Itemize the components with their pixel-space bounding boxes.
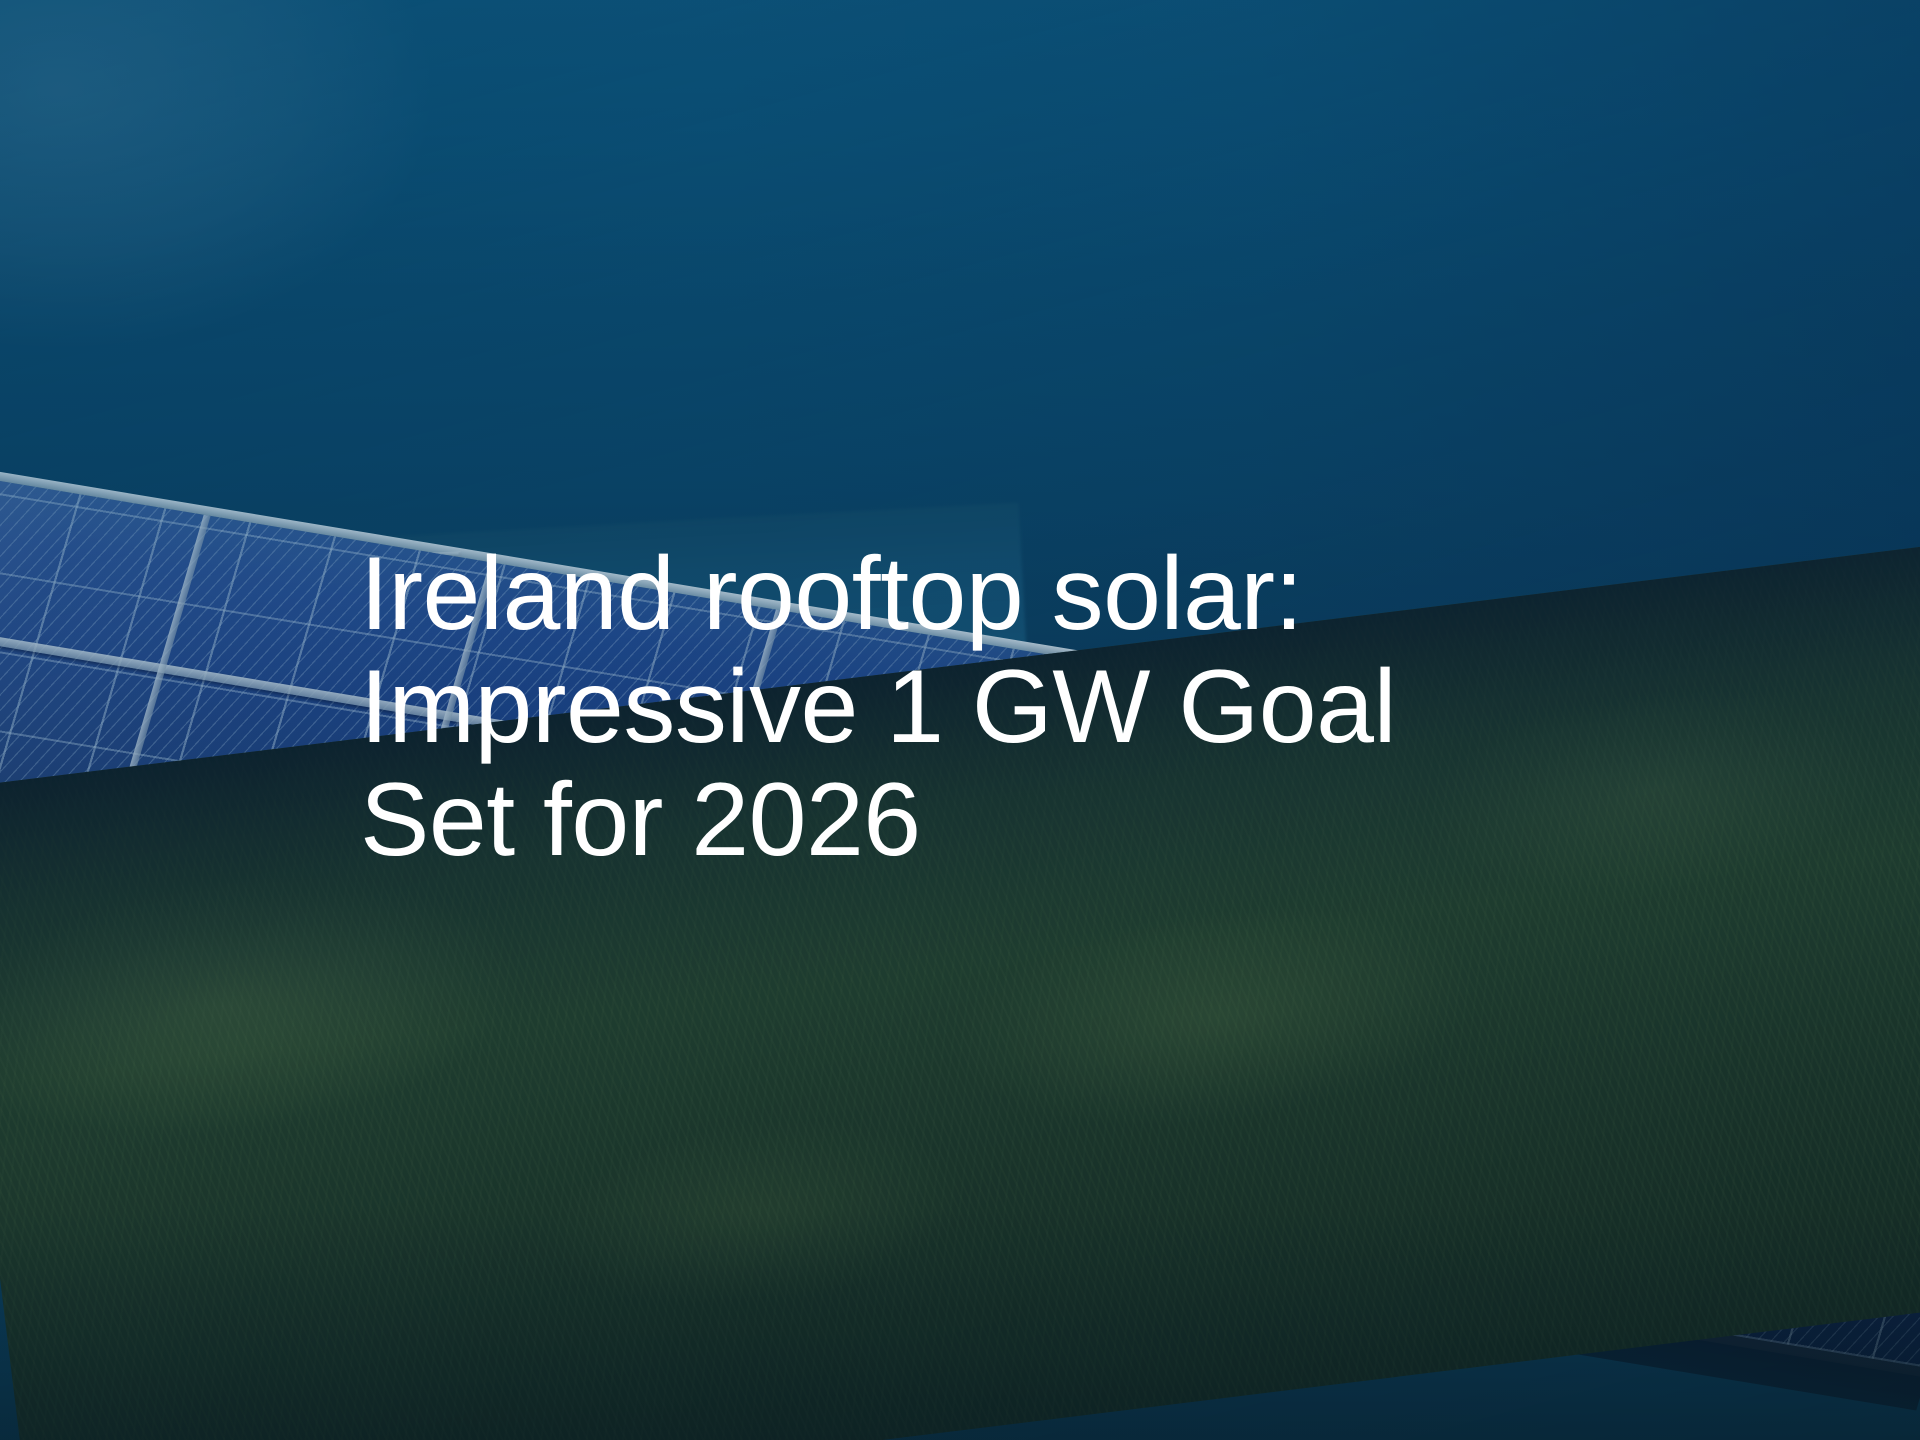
headline-title: Ireland rooftop solar: Impressive 1 GW G… <box>360 538 1660 877</box>
hero-banner: Ireland rooftop solar: Impressive 1 GW G… <box>0 0 1920 1440</box>
